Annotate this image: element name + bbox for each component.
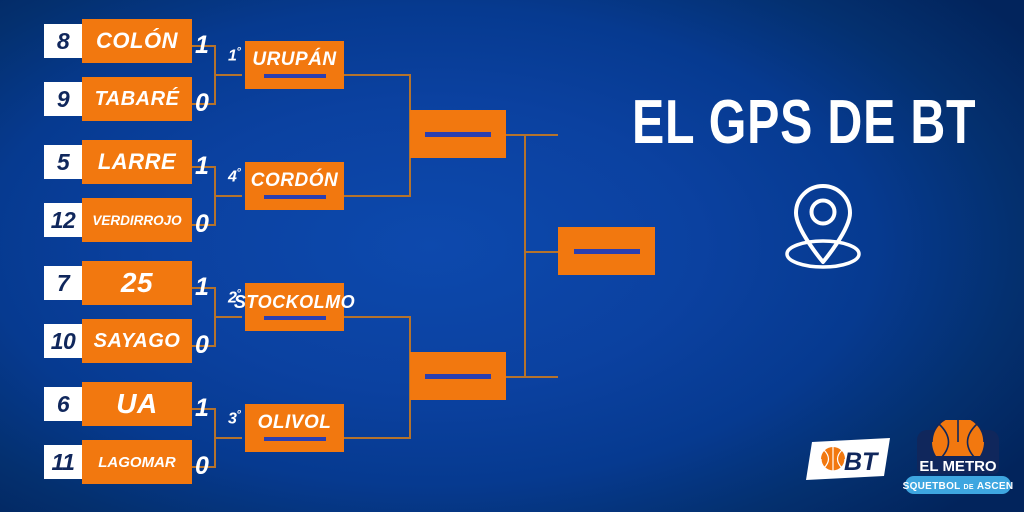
el-metro-tagline-main: BÁSQUETBOL <box>903 479 961 492</box>
winner-box[interactable]: OLIVOL <box>245 404 344 452</box>
connector-line <box>344 316 411 318</box>
connector-line <box>214 74 242 76</box>
connector-line <box>506 376 558 378</box>
winner-name: STOCKOLMO <box>234 292 355 313</box>
team-box[interactable]: LAGOMAR <box>82 440 192 484</box>
placeholder-underline <box>425 374 491 379</box>
el-metro-logo: EL METRO BÁSQUETBOLDEASCENSO <box>903 420 1013 505</box>
final-box[interactable] <box>558 227 655 275</box>
team-score: 0 <box>191 454 213 479</box>
team-box[interactable]: 25 <box>82 261 192 305</box>
semifinal-box[interactable] <box>410 352 506 400</box>
placeholder-underline <box>574 249 640 254</box>
winner-underline <box>264 195 326 199</box>
seed-badge: 8 <box>44 24 82 58</box>
team-name: SAYAGO <box>94 330 181 353</box>
team-box[interactable]: LARRE <box>82 140 192 184</box>
team-score: 1 <box>191 396 213 421</box>
ordinal-suffix: º <box>237 409 241 420</box>
el-metro-title: EL METRO <box>919 458 997 475</box>
ordinal-number: 4 <box>228 168 237 185</box>
team-name: LAGOMAR <box>98 454 176 471</box>
team-name: UA <box>116 388 157 420</box>
page-title: EL GPS DE BT <box>632 92 976 154</box>
seed-ordinal: 1º <box>228 46 241 65</box>
seed-badge: 9 <box>44 82 82 116</box>
bt-logo-text: BT <box>844 448 880 476</box>
team-score: 1 <box>191 33 213 58</box>
seed-badge: 11 <box>44 445 82 479</box>
winner-box[interactable]: STOCKOLMO <box>245 283 344 331</box>
ordinal-number: 3 <box>228 410 237 427</box>
winner-box[interactable]: CORDÓN <box>245 162 344 210</box>
team-name: VERDIRROJO <box>92 213 181 228</box>
semifinal-box[interactable] <box>410 110 506 158</box>
seed-badge: 7 <box>44 266 82 300</box>
team-name: 25 <box>121 267 153 299</box>
winner-name: URUPÁN <box>252 49 336 71</box>
svg-text:BÁSQUETBOLDEASCENSO: BÁSQUETBOLDEASCENSO <box>903 479 1013 492</box>
connector-line <box>344 195 411 197</box>
ordinal-number: 1 <box>228 47 237 64</box>
connector-line <box>214 437 242 439</box>
team-name: TABARÉ <box>95 88 180 111</box>
connector-line <box>214 316 242 318</box>
connector-line <box>344 437 411 439</box>
team-score: 1 <box>191 154 213 179</box>
connector-line <box>214 195 242 197</box>
winner-underline <box>264 437 326 441</box>
winner-underline <box>264 316 326 320</box>
el-metro-tagline-de: DE <box>964 484 974 491</box>
bracket-graphic: 8 COLÓN 1 9 TABARÉ 0 5 LARRE 1 12 VERDIR… <box>0 0 1024 512</box>
location-pin-icon <box>770 178 876 279</box>
seed-badge: 5 <box>44 145 82 179</box>
seed-ordinal: 3º <box>228 409 241 428</box>
team-box[interactable]: COLÓN <box>82 19 192 63</box>
team-box[interactable]: SAYAGO <box>82 319 192 363</box>
winner-name: OLIVOL <box>258 412 332 434</box>
winner-box[interactable]: URUPÁN <box>245 41 344 89</box>
winner-underline <box>264 74 326 78</box>
team-box[interactable]: TABARÉ <box>82 77 192 121</box>
team-score: 0 <box>191 333 213 358</box>
connector-line <box>506 134 558 136</box>
seed-badge: 12 <box>44 203 82 237</box>
el-metro-tagline-end: ASCENSO <box>977 481 1013 492</box>
winner-name: CORDÓN <box>251 170 338 192</box>
team-score: 0 <box>191 91 213 116</box>
team-name: COLÓN <box>96 28 178 54</box>
team-score: 1 <box>191 275 213 300</box>
ordinal-suffix: º <box>237 46 241 57</box>
connector-line <box>524 251 558 253</box>
team-name: LARRE <box>98 149 176 175</box>
team-score: 0 <box>191 212 213 237</box>
team-box[interactable]: VERDIRROJO <box>82 198 192 242</box>
seed-badge: 10 <box>44 324 82 358</box>
ordinal-suffix: º <box>237 167 241 178</box>
placeholder-underline <box>425 132 491 137</box>
seed-badge: 6 <box>44 387 82 421</box>
bt-logo: BT <box>806 438 890 485</box>
team-box[interactable]: UA <box>82 382 192 426</box>
seed-ordinal: 4º <box>228 167 241 186</box>
connector-line <box>524 134 526 377</box>
connector-line <box>344 74 411 76</box>
